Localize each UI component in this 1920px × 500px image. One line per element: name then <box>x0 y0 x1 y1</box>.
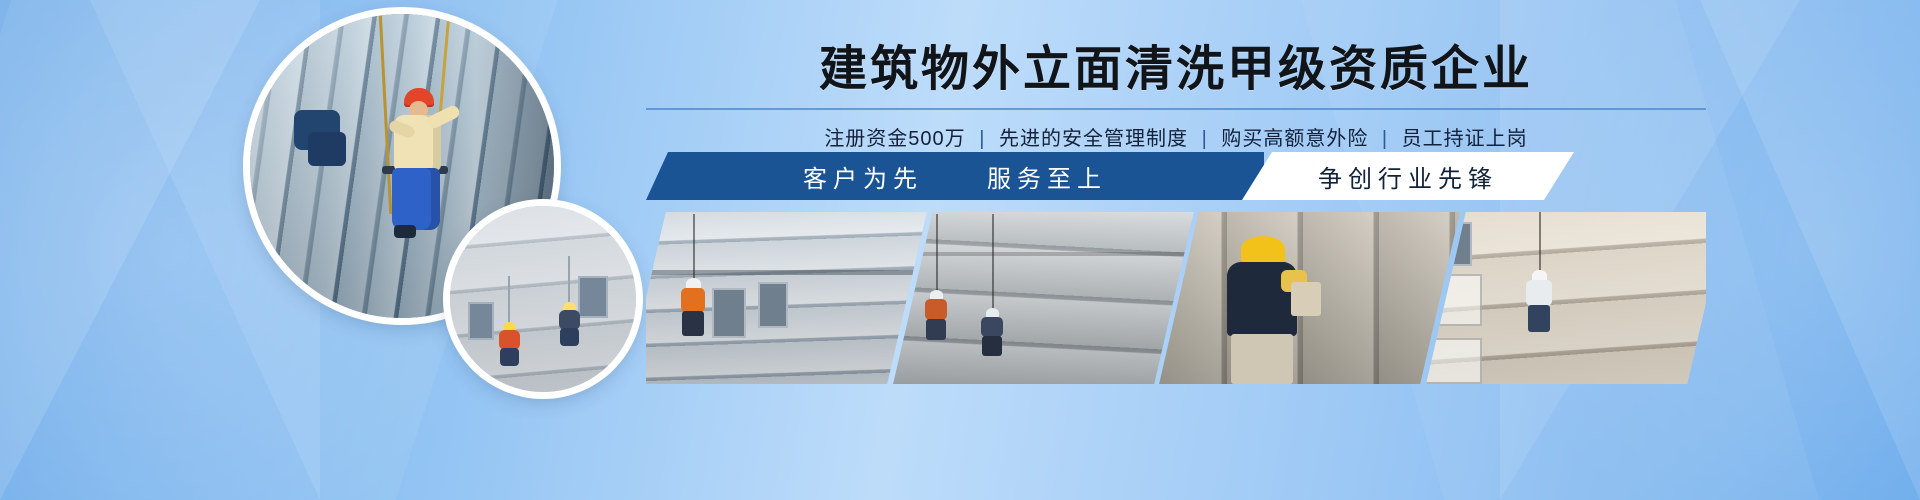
water-bucket <box>308 132 346 166</box>
promo-banner: 建筑物外立面清洗甲级资质企业 注册资金500万 | 先进的安全管理制度 | 购买… <box>0 0 1920 500</box>
headline-block: 建筑物外立面清洗甲级资质企业 注册资金500万 | 先进的安全管理制度 | 购买… <box>646 44 1706 151</box>
photo-strip <box>646 212 1706 384</box>
banner-stage: 建筑物外立面清洗甲级资质企业 注册资金500万 | 先进的安全管理制度 | 购买… <box>176 0 1744 500</box>
panel2-torso-b <box>981 317 1003 337</box>
panel4-legs <box>1528 305 1550 332</box>
ribbon-white-segment: 争创行业先锋 <box>1242 152 1574 200</box>
photo-panel-1 <box>646 212 926 384</box>
photo-panel-3 <box>1159 212 1459 384</box>
photo-circle-small <box>450 206 636 392</box>
rope-left <box>508 276 510 326</box>
facade-window-1 <box>468 302 494 340</box>
worker-boot <box>394 225 416 238</box>
panel1-rope <box>693 214 695 284</box>
panel4-rope <box>1539 212 1541 276</box>
panel3-worker <box>1217 236 1313 384</box>
slogan-service-supreme: 服务至上 <box>987 159 1107 194</box>
panel2-worker-b <box>977 308 1007 356</box>
panel2-legs-b <box>982 336 1002 356</box>
slogan-ribbon: 客户为先 服务至上 争创行业先锋 <box>646 152 1706 200</box>
grey-facade-photo <box>450 206 636 392</box>
grey-facade <box>450 206 636 392</box>
photo-panel-1-image <box>646 212 926 384</box>
worker-right <box>554 302 584 346</box>
torso-left <box>499 330 520 350</box>
panel2-legs-a <box>926 319 946 340</box>
photo-panel-3-image <box>1159 212 1459 384</box>
panel1-legs <box>682 311 704 336</box>
worker-left <box>494 322 524 366</box>
photo-panel-2 <box>893 212 1193 384</box>
subtitle-separator-3: | <box>1375 128 1395 150</box>
photo-panel-2-image <box>893 212 1193 384</box>
panel1-window-1 <box>712 288 746 338</box>
ribbon-blue-segment: 客户为先 服务至上 <box>646 152 1264 200</box>
page-title: 建筑物外立面清洗甲级资质企业 <box>646 44 1706 96</box>
panel3-legs <box>1231 334 1293 384</box>
slogan-customer-first: 客户为先 <box>803 159 923 194</box>
rope-right <box>568 256 570 306</box>
slogan-industry-pioneer: 争创行业先锋 <box>1318 159 1498 194</box>
subtitle-separator-1: | <box>972 128 992 150</box>
subtitle-item-2: 先进的安全管理制度 <box>999 128 1188 150</box>
panel4-balcony-lower <box>1426 338 1482 384</box>
subtitle-item-3: 购买高额意外险 <box>1221 128 1368 150</box>
roof-rail-1 <box>646 270 926 275</box>
subtitle-line: 注册资金500万 | 先进的安全管理制度 | 购买高额意外险 | 员工持证上岗 <box>646 122 1706 151</box>
photo-panel-4-image <box>1426 212 1706 384</box>
panel3-yellow-helmet <box>1241 236 1285 262</box>
panel3-trowel <box>1291 282 1321 316</box>
title-divider <box>646 108 1706 110</box>
legs-right <box>560 328 579 346</box>
worker-arm-raised <box>425 104 461 131</box>
panel2-torso-a <box>925 299 947 320</box>
panel2-worker-a <box>921 290 951 340</box>
subtitle-item-4: 员工持证上岗 <box>1402 128 1528 150</box>
panel1-worker <box>676 278 710 336</box>
panel4-worker <box>1522 270 1556 332</box>
photo-panel-4 <box>1426 212 1706 384</box>
worker-legs <box>392 168 440 230</box>
subtitle-item-1: 注册资金500万 <box>824 128 965 150</box>
panel2-rope-a <box>936 214 938 296</box>
legs-left <box>500 348 519 366</box>
panel1-torso <box>681 288 705 312</box>
panel1-window-2 <box>758 282 788 328</box>
subtitle-separator-2: | <box>1195 128 1215 150</box>
panel4-torso <box>1526 280 1552 306</box>
torso-right <box>559 310 580 330</box>
panel2-rope-b <box>992 214 994 314</box>
